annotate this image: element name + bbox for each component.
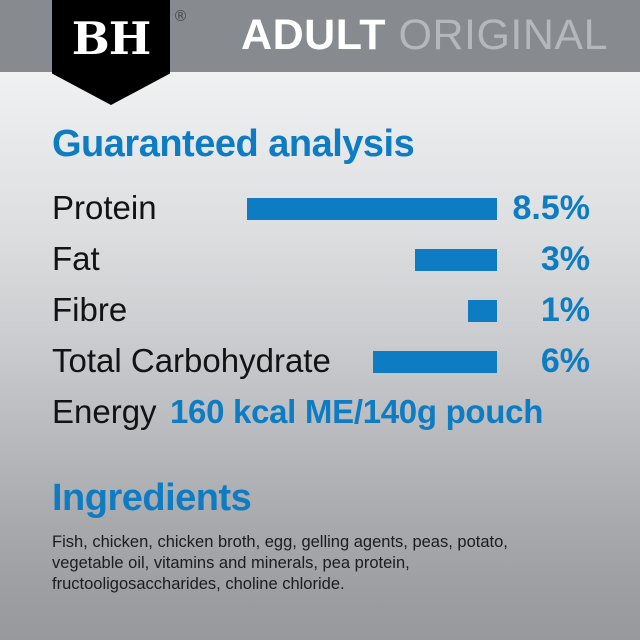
nutrient-value: 6%: [450, 339, 590, 383]
nutrient-row-energy: Energy 160 kcal ME/140g pouch: [0, 390, 640, 441]
nutrient-value: 8.5%: [450, 186, 590, 230]
energy-value: 160 kcal ME/140g pouch: [170, 390, 543, 434]
product-line-label: ADULT: [241, 11, 386, 59]
nutrient-label: Fat: [52, 237, 100, 281]
nutrient-label: Total Carbohydrate: [52, 339, 331, 383]
nutrient-label: Protein: [52, 186, 157, 230]
nutrient-label: Fibre: [52, 288, 127, 332]
guaranteed-analysis-heading: Guaranteed analysis: [52, 125, 414, 163]
pet-food-label-panel: BH ® ADULT ORIGINAL Guaranteed analysis …: [0, 0, 640, 640]
product-variant-label: ORIGINAL: [399, 11, 609, 59]
nutrient-value: 1%: [450, 288, 590, 332]
ingredients-list-text: Fish, chicken, chicken broth, egg, gelli…: [52, 532, 572, 595]
nutrient-row-protein: Protein 8.5%: [0, 186, 640, 237]
product-title: ADULT ORIGINAL: [0, 9, 608, 62]
ingredients-heading: Ingredients: [52, 479, 251, 517]
nutrient-row-fibre: Fibre 1%: [0, 288, 640, 339]
nutrient-row-total-carbohydrate: Total Carbohydrate 6%: [0, 339, 640, 390]
nutrient-row-fat: Fat 3%: [0, 237, 640, 288]
nutrient-value: 3%: [450, 237, 590, 281]
nutrient-table: Protein 8.5% Fat 3% Fibre 1% Total Carbo…: [0, 186, 640, 441]
energy-label: Energy: [52, 390, 157, 434]
